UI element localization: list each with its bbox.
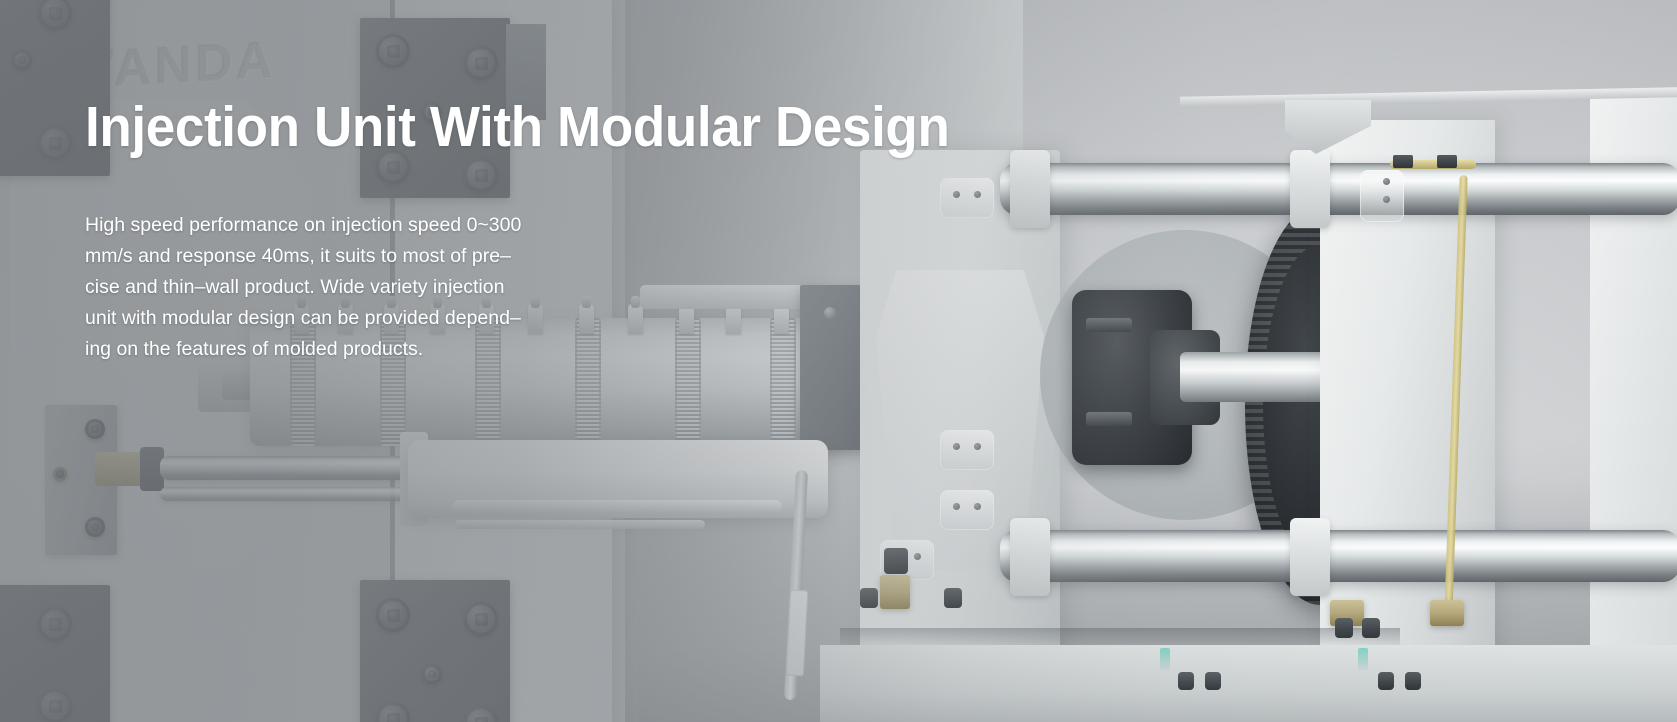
page-title: Injection Unit With Modular Design xyxy=(85,96,662,158)
bolt-pad xyxy=(940,178,994,218)
machine-base xyxy=(820,645,1677,722)
hex-bolt-icon xyxy=(85,517,105,537)
hex-bolt-icon xyxy=(38,607,72,641)
cylinder-piston-rod-secondary xyxy=(455,520,705,529)
sensor-pin xyxy=(1358,648,1368,670)
hex-bolt-icon xyxy=(422,664,442,684)
tie-bar-collar xyxy=(1290,150,1330,228)
hero-description: High speed performance on injection spee… xyxy=(85,210,605,365)
hex-bolt-icon xyxy=(1378,672,1394,690)
hero-description-line: ing on the features of molded products. xyxy=(85,334,605,365)
cylinder-piston-rod xyxy=(452,500,782,514)
hex-bolt-icon xyxy=(38,0,72,30)
hex-bolt-icon xyxy=(376,34,410,68)
tie-bar-top xyxy=(1000,163,1677,215)
mounting-plate-bottom-center xyxy=(360,580,510,722)
brass-fitting xyxy=(880,575,910,609)
hex-bolt-icon xyxy=(944,588,962,608)
hex-bolt-icon xyxy=(85,419,105,439)
hero-description-line: High speed performance on injection spee… xyxy=(85,210,605,241)
hex-bolt-icon xyxy=(376,598,410,632)
coupling-slot xyxy=(1086,318,1132,332)
hex-bolt-icon xyxy=(1205,672,1221,690)
brass-screw-icon xyxy=(53,467,67,481)
bolt-pad xyxy=(1360,170,1404,222)
tie-bar-collar xyxy=(1010,518,1050,596)
brass-clamp-block xyxy=(1430,600,1464,626)
sensor-pin xyxy=(1160,648,1170,670)
mounting-plate-bottom-left xyxy=(0,585,110,722)
hex-bolt-icon xyxy=(12,50,32,70)
coupling-slot xyxy=(1086,412,1132,426)
hex-bolt-icon xyxy=(884,548,908,574)
hex-bolt-icon xyxy=(376,702,410,722)
hex-bolt-icon xyxy=(38,689,72,722)
hex-bolt-icon xyxy=(464,706,498,722)
heater-band xyxy=(770,318,796,446)
hero-copy: Injection Unit With Modular Design High … xyxy=(85,96,705,365)
screw-head-icon xyxy=(824,307,836,319)
hex-bolt-icon xyxy=(464,602,498,636)
hose-clip xyxy=(1393,155,1413,168)
bolt-pad xyxy=(940,490,994,530)
hex-bolt-icon xyxy=(1405,672,1421,690)
hero-banner: WANDA xyxy=(0,0,1677,722)
hex-bolt-icon xyxy=(1178,672,1194,690)
tie-bar-collar xyxy=(1290,518,1330,596)
hero-description-line: mm/s and response 40ms, it suits to most… xyxy=(85,241,605,272)
bolt-pad xyxy=(940,430,994,470)
hero-description-line: unit with modular design can be provided… xyxy=(85,303,605,334)
tie-bar-collar xyxy=(1010,150,1050,228)
hose-clip xyxy=(1437,155,1457,168)
tie-bar-bottom xyxy=(1000,530,1677,582)
hex-bolt-icon xyxy=(860,588,878,608)
hex-bolt-icon xyxy=(464,46,498,80)
hex-bolt-icon xyxy=(38,126,72,160)
hero-description-line: cise and thin–wall product. Wide variety… xyxy=(85,272,605,303)
